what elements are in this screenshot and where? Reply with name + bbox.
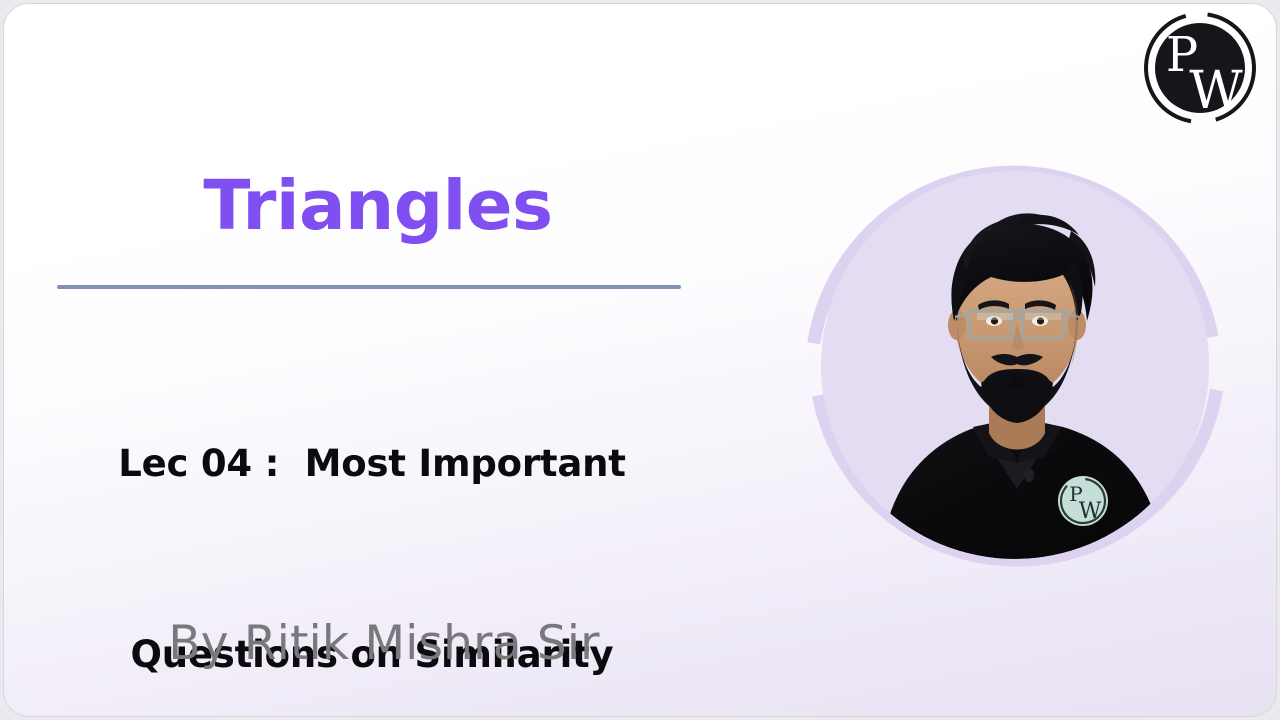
page-title: Triangles (4, 172, 740, 241)
svg-text:W: W (1189, 61, 1243, 121)
byline: By Ritik Mishra Sir (4, 616, 764, 671)
title-divider (57, 285, 681, 289)
pw-logo-icon: P W (1141, 9, 1259, 127)
slide-card: Triangles Lec 04 : Most Important Questi… (3, 3, 1277, 717)
instructor-medallion: P W (795, 145, 1235, 585)
subtitle-line-1: Lec 04 : Most Important (4, 432, 740, 496)
text-column: Triangles Lec 04 : Most Important Questi… (4, 172, 740, 442)
svg-text:W: W (1079, 499, 1102, 524)
instructor-photo-disc: P W (821, 171, 1209, 559)
instructor-portrait: P W (821, 171, 1209, 559)
slide-root: Triangles Lec 04 : Most Important Questi… (0, 0, 1280, 720)
